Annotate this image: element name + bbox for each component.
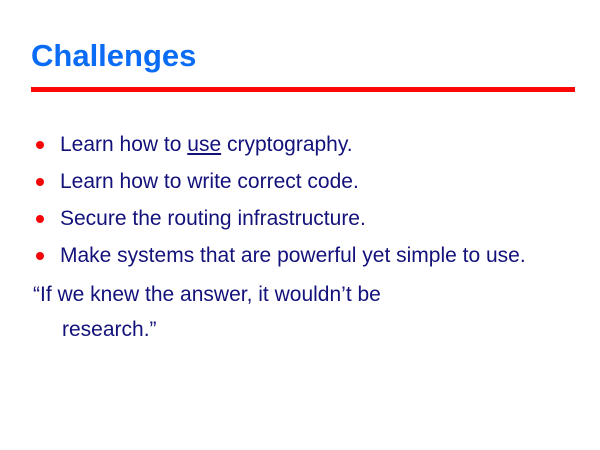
list-item-text: Learn how to use cryptography. xyxy=(60,127,576,162)
list-item-text-after: cryptography. xyxy=(221,133,353,156)
list-item: Learn how to write correct code. xyxy=(31,164,576,199)
list-item-text-emphasis: use xyxy=(187,133,221,156)
bullet-dot-icon xyxy=(36,178,44,186)
bullet-dot-icon xyxy=(36,141,44,149)
bullet-dot-icon xyxy=(36,215,44,223)
list-item-text: Learn how to write correct code. xyxy=(60,164,576,199)
quotation-block: “If we knew the answer, it wouldn’t be r… xyxy=(31,277,576,347)
list-item-text-before: Learn how to xyxy=(60,133,187,156)
quotation-line-1: “If we knew the answer, it wouldn’t be xyxy=(33,277,576,312)
slide-canvas: Challenges Learn how to use cryptography… xyxy=(0,0,600,450)
list-item: Make systems that are powerful yet simpl… xyxy=(31,238,576,273)
title-divider-rule xyxy=(31,87,575,92)
bullet-dot-icon xyxy=(36,252,44,260)
list-item: Learn how to use cryptography. xyxy=(31,127,576,162)
slide-body: Learn how to use cryptography. Learn how… xyxy=(31,127,576,347)
list-item-text: Secure the routing infrastructure. xyxy=(60,201,576,236)
page-title: Challenges xyxy=(31,38,196,74)
list-item-text: Make systems that are powerful yet simpl… xyxy=(60,238,576,273)
list-item: Secure the routing infrastructure. xyxy=(31,201,576,236)
quotation-line-2: research.” xyxy=(33,312,576,347)
